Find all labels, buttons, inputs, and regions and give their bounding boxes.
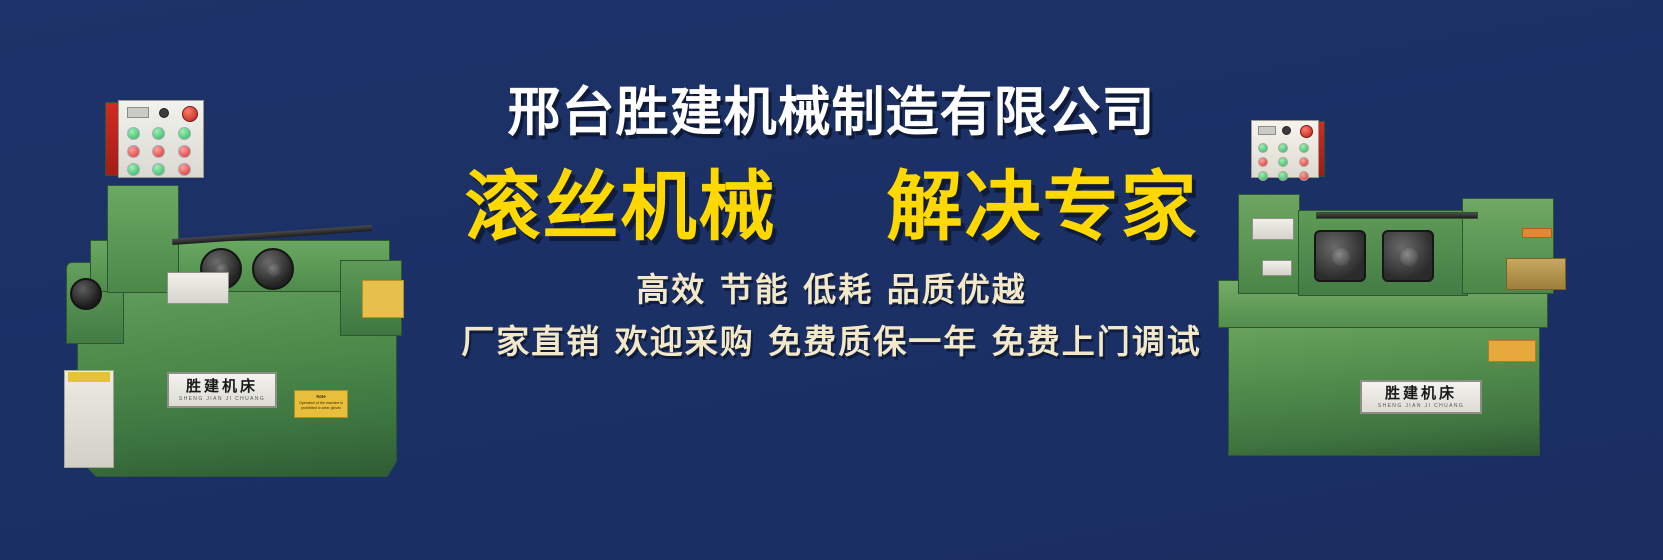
machine-right-headstock [1238, 194, 1300, 294]
headline-right: 解决专家 [887, 162, 1199, 251]
panel-selector-knob-right [1282, 126, 1291, 135]
indicator-light-4[interactable] [127, 145, 140, 158]
machine-left-nameplate: 胜建机床 SHENG JIAN JI CHUANG [167, 372, 277, 408]
machine-right-orange-label [1488, 340, 1536, 362]
thread-rolling-machine-left-image: 胜建机床 SHENG JIAN JI CHUANG Note Operation… [22, 92, 412, 482]
indicator-light-7[interactable] [127, 163, 140, 176]
indicator-light-r7[interactable] [1258, 171, 1268, 181]
indicator-light-5[interactable] [152, 145, 165, 158]
panel-button-grid-right [1258, 143, 1314, 181]
panel-meter-display-right [1258, 126, 1276, 135]
indicator-light-r6[interactable] [1299, 157, 1309, 167]
machine-left-yellow-label [362, 280, 404, 318]
machine-right-coolant-manifold [1522, 228, 1552, 238]
roller-die-2 [252, 248, 294, 290]
roller-die-right-2 [1382, 230, 1434, 282]
panel-selector-knob [159, 108, 169, 118]
machine-left-spec-plate [167, 272, 229, 304]
warning-label-body: Operation of the machine is prohibited t… [299, 401, 343, 410]
indicator-light-r8[interactable] [1278, 171, 1288, 181]
machine-right-nameplate-cn: 胜建机床 [1385, 386, 1457, 401]
machine-right-control-panel [1251, 120, 1319, 178]
machine-right-spec-plate [1252, 218, 1294, 240]
promotional-banner: 胜建机床 SHENG JIAN JI CHUANG Note Operation… [0, 0, 1663, 560]
roller-die-right-1 [1314, 230, 1366, 282]
machine-right-spec-plate-2 [1262, 260, 1292, 276]
indicator-light-2[interactable] [152, 127, 165, 140]
indicator-light-r3[interactable] [1299, 143, 1309, 153]
indicator-light-r4[interactable] [1258, 157, 1268, 167]
panel-meter-display [127, 107, 149, 118]
emergency-stop-button[interactable] [182, 106, 198, 122]
panel-button-grid [127, 127, 197, 176]
machine-left-cabinet-label [68, 372, 110, 382]
machine-right-nameplate-pinyin: SHENG JIAN JI CHUANG [1378, 404, 1464, 409]
indicator-light-6[interactable] [178, 145, 191, 158]
indicator-light-r1[interactable] [1258, 143, 1268, 153]
indicator-light-1[interactable] [127, 127, 140, 140]
machine-left-nameplate-cn: 胜建机床 [186, 379, 258, 394]
machine-left-warning-label: Note Operation of the machine is prohibi… [294, 390, 348, 418]
machine-left-control-panel [118, 100, 204, 178]
machine-right-drive-shaft [1316, 212, 1478, 219]
indicator-light-r5[interactable] [1278, 157, 1288, 167]
indicator-light-3[interactable] [178, 127, 191, 140]
headline-left: 滚丝机械 [465, 162, 777, 251]
machine-left-handwheel [70, 278, 102, 310]
indicator-light-r2[interactable] [1278, 143, 1288, 153]
indicator-light-8[interactable] [152, 163, 165, 176]
thread-rolling-machine-right-image: 胜建机床 SHENG JIAN JI CHUANG [1166, 118, 1586, 458]
machine-left-nameplate-pinyin: SHENG JIAN JI CHUANG [179, 397, 265, 402]
machine-left-electrical-cabinet [64, 370, 114, 468]
emergency-stop-button-right[interactable] [1300, 125, 1313, 138]
machine-right-nameplate: 胜建机床 SHENG JIAN JI CHUANG [1360, 380, 1482, 414]
indicator-light-9[interactable] [178, 163, 191, 176]
warning-label-title: Note [297, 394, 345, 400]
machine-right-brass-plate [1506, 258, 1566, 290]
indicator-light-r9[interactable] [1299, 171, 1309, 181]
